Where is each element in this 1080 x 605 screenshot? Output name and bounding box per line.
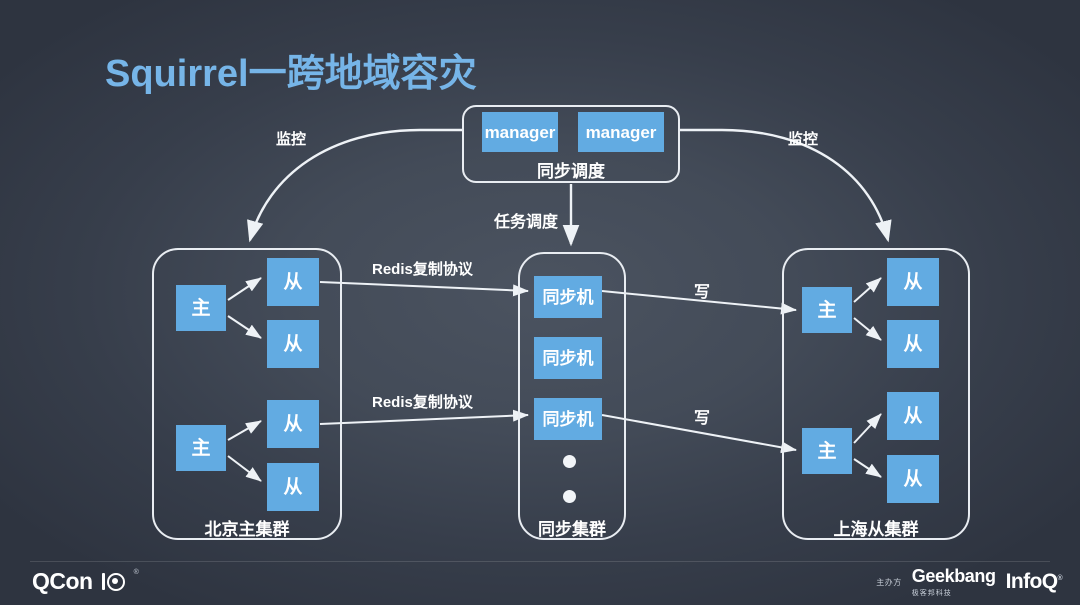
qcon-logo: QCon ® — [32, 568, 139, 595]
edge-label-write-2: 写 — [694, 404, 710, 428]
infoq-wordmark: InfoQ® — [1006, 570, 1062, 594]
sync-machine-node-1[interactable]: 同步机 — [534, 276, 602, 318]
edge-label-write-1: 写 — [694, 278, 710, 302]
beijing-slave-node-1[interactable]: 从 — [267, 258, 319, 306]
cluster-sync-caption: 同步集群 — [498, 515, 646, 540]
shanghai-slave-node-3[interactable]: 从 — [887, 392, 939, 440]
manager-node-2[interactable]: manager — [578, 112, 664, 152]
manager-node-1[interactable]: manager — [482, 112, 558, 152]
scheduler-caption: 同步调度 — [462, 157, 680, 182]
cluster-shanghai-caption: 上海从集群 — [782, 515, 970, 540]
geekbang-logo: Geekbang 极客邦科技 — [912, 566, 996, 598]
host-label: 主办方 — [876, 577, 902, 588]
cluster-beijing-caption: 北京主集群 — [152, 515, 342, 540]
geekbang-wordmark: Geekbang — [912, 566, 996, 587]
edge-label-task-schedule: 任务调度 — [494, 208, 558, 232]
shanghai-master-node-1[interactable]: 主 — [802, 287, 852, 333]
ellipsis-dot-2 — [563, 490, 576, 503]
beijing-slave-node-2[interactable]: 从 — [267, 320, 319, 368]
beijing-slave-node-4[interactable]: 从 — [267, 463, 319, 511]
infoq-registered-mark: ® — [1057, 575, 1062, 582]
beijing-slave-node-3[interactable]: 从 — [267, 400, 319, 448]
page-title: Squirrel一跨地域容灾 — [105, 42, 477, 97]
edge-label-monitor-left: 监控 — [276, 128, 306, 149]
shanghai-slave-node-1[interactable]: 从 — [887, 258, 939, 306]
edge-label-redis-replication-2: Redis复制协议 — [372, 391, 473, 412]
sync-machine-node-3[interactable]: 同步机 — [534, 398, 602, 440]
shanghai-slave-node-4[interactable]: 从 — [887, 455, 939, 503]
beijing-master-node-2[interactable]: 主 — [176, 425, 226, 471]
sponsor-logos: 主办方 Geekbang 极客邦科技 InfoQ® — [876, 566, 1062, 598]
beijing-master-node-1[interactable]: 主 — [176, 285, 226, 331]
qcon-wordmark: QCon — [32, 568, 93, 595]
ellipsis-dot-1 — [563, 455, 576, 468]
sync-machine-node-2[interactable]: 同步机 — [534, 337, 602, 379]
edge-label-monitor-right: 监控 — [788, 128, 818, 149]
shanghai-slave-node-2[interactable]: 从 — [887, 320, 939, 368]
qcon-ring-icon — [102, 573, 125, 591]
shanghai-master-node-2[interactable]: 主 — [802, 428, 852, 474]
edge-label-redis-replication-1: Redis复制协议 — [372, 258, 473, 279]
infoq-text: InfoQ — [1006, 570, 1058, 593]
geekbang-subtitle: 极客邦科技 — [912, 588, 952, 598]
qcon-registered-mark: ® — [134, 569, 139, 576]
footer-divider — [30, 561, 1050, 562]
